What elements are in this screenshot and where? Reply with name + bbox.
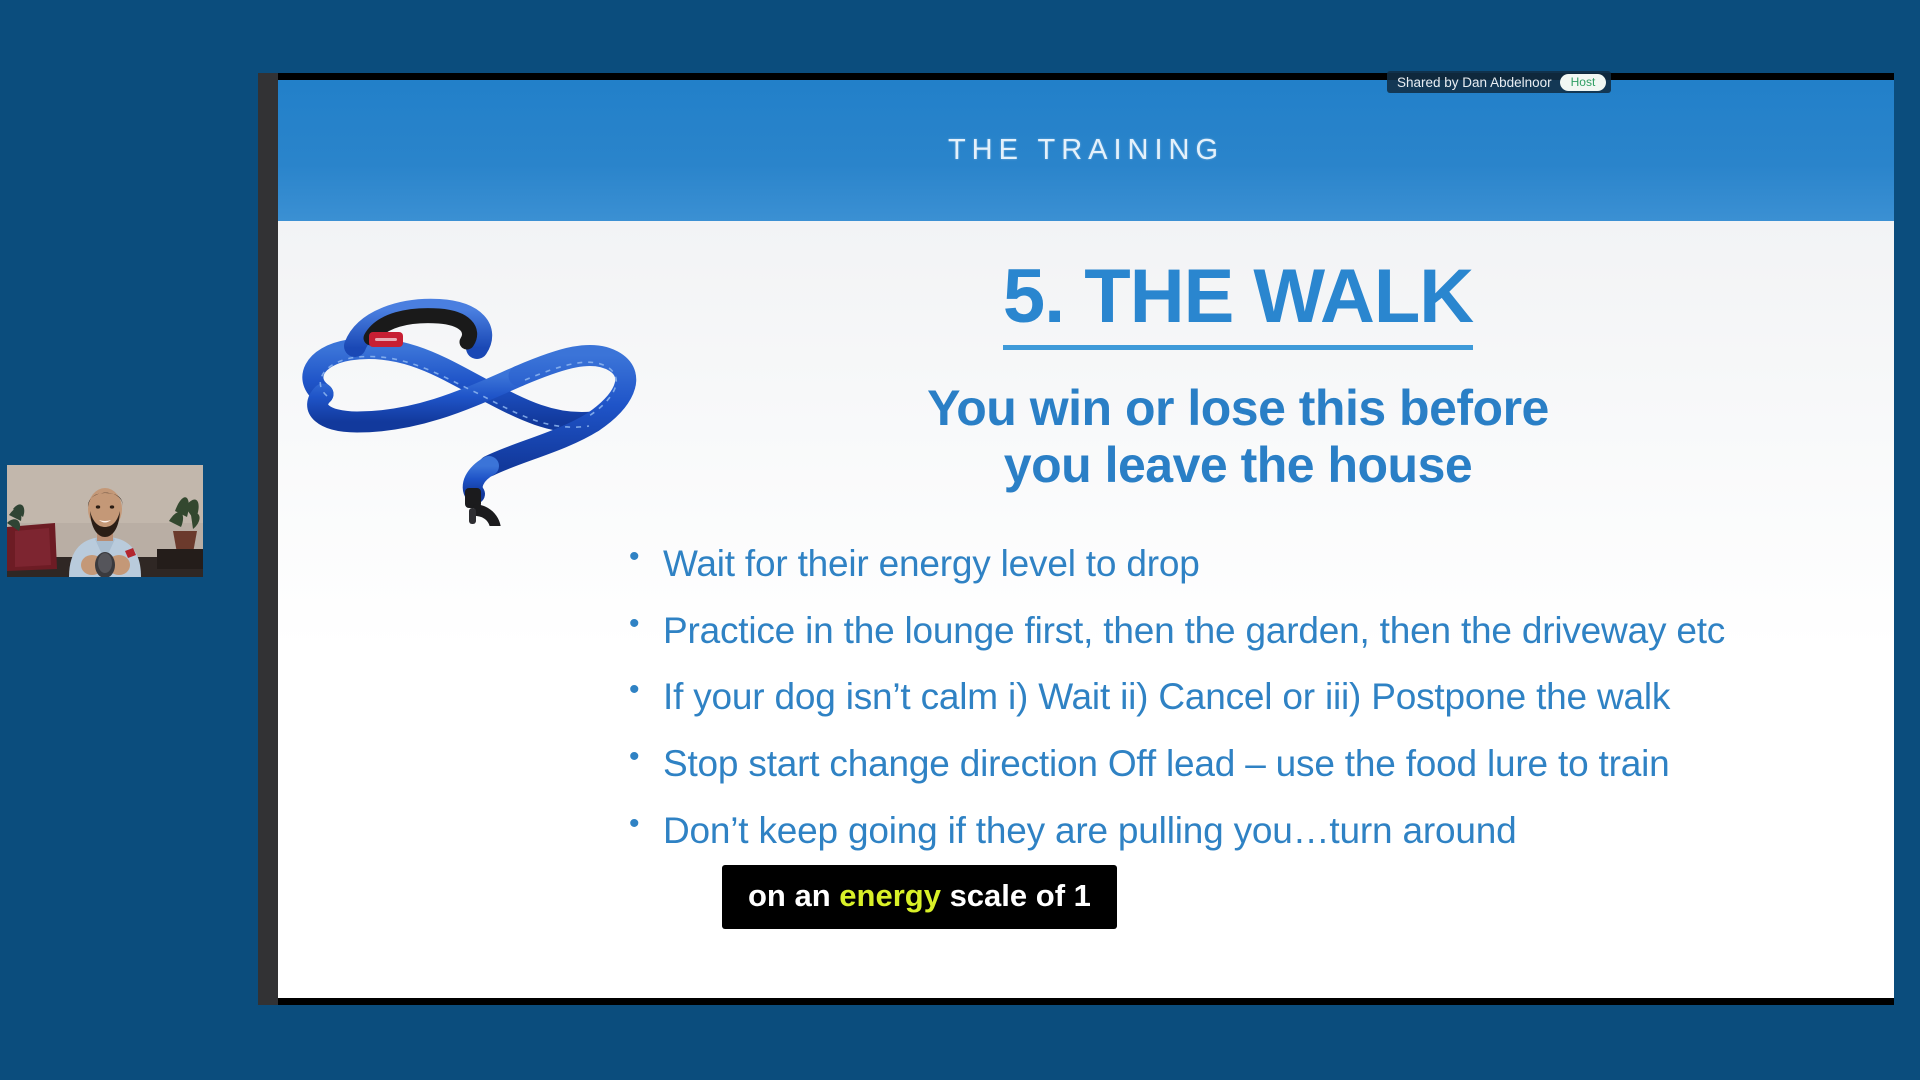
bullet-item: If your dog isn’t calm i) Wait ii) Cance… <box>623 670 1873 724</box>
bullet-item: Wait for their energy level to drop <box>623 537 1873 591</box>
meeting-screen: THE TRAINING <box>0 0 1920 1080</box>
slide-bullet-list: Wait for their energy level to drop Prac… <box>623 537 1873 870</box>
shared-by-label: Shared by Dan Abdelnoor <box>1397 75 1552 90</box>
caption-highlight-word: energy <box>839 878 941 913</box>
host-badge: Host <box>1560 74 1607 91</box>
participant-video-frame <box>7 465 203 577</box>
slide-heading: 5. THE WALK <box>1003 259 1473 350</box>
slide-subheading-line-2: you leave the house <box>708 437 1768 494</box>
shared-by-indicator: Shared by Dan Abdelnoor Host <box>1387 71 1611 93</box>
bullet-item: Practice in the lounge first, then the g… <box>623 604 1873 658</box>
caption-subtitle: on an energy scale of 1 <box>722 865 1117 929</box>
slide-subheading: You win or lose this before you leave th… <box>708 380 1768 494</box>
slide-header-band: THE TRAINING <box>278 80 1894 221</box>
caption-text-after: scale of 1 <box>941 878 1091 913</box>
dog-leash-image <box>293 276 653 526</box>
bullet-item: Stop start change direction Off lead – u… <box>623 737 1873 791</box>
caption-text-before: on an <box>748 878 839 913</box>
presentation-slide: THE TRAINING <box>278 80 1894 998</box>
bullet-item: Don’t keep going if they are pulling you… <box>623 804 1873 858</box>
participant-video-tile[interactable] <box>7 465 203 577</box>
slide-header-title: THE TRAINING <box>948 134 1224 167</box>
slide-headline-block: 5. THE WALK You win or lose this before … <box>708 259 1768 494</box>
shared-screen-left-bar <box>258 73 278 1005</box>
slide-subheading-line-1: You win or lose this before <box>708 380 1768 437</box>
